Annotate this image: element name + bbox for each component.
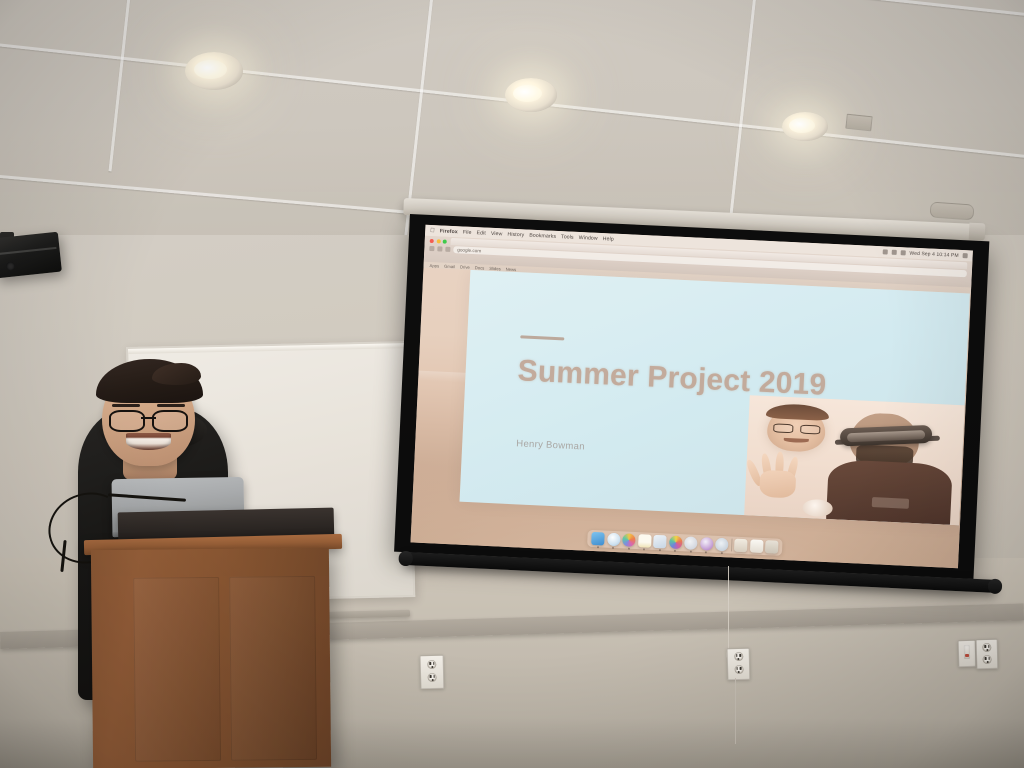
trash-icon[interactable] [765, 540, 779, 554]
photos-icon[interactable] [622, 533, 636, 547]
apple-menu-icon[interactable]:  [430, 227, 435, 233]
wall-outlet-center [727, 648, 751, 681]
ceiling-downlight-2 [505, 78, 557, 112]
menu-item-help[interactable]: Help [603, 236, 614, 243]
safari-icon[interactable] [607, 533, 621, 547]
wall-mounted-projector-speaker [0, 232, 62, 279]
menu-bar-clock[interactable]: Wed Sep 4 10:14 PM [909, 250, 958, 258]
bluetooth-icon[interactable] [882, 249, 887, 254]
wifi-icon[interactable] [891, 250, 896, 255]
zoom-window-button[interactable] [443, 239, 447, 243]
menu-item-view[interactable]: View [491, 230, 503, 237]
menu-item-history[interactable]: History [507, 231, 524, 238]
ceiling-vent [845, 114, 872, 132]
app-store-icon[interactable] [653, 535, 667, 549]
presenter-smile [126, 433, 171, 449]
ceiling-downlight-1 [185, 52, 243, 90]
bookmark-gmail[interactable]: Gmail [444, 263, 455, 269]
projection-screen-frame:  Firefox File Edit View History Bookmar… [394, 214, 989, 579]
menu-item-tools[interactable]: Tools [561, 234, 574, 241]
address-bar-url: google.com [457, 247, 481, 253]
ceiling-speaker-grille [929, 201, 974, 220]
presenter-brow-right [157, 404, 185, 407]
menu-item-bookmarks[interactable]: Bookmarks [529, 232, 556, 239]
menu-item-edit[interactable]: Edit [476, 230, 486, 236]
headset-wearer-figure [826, 411, 956, 525]
holographic-face-icon [767, 406, 827, 453]
battery-icon[interactable] [900, 250, 905, 255]
wall-outlet-right [976, 639, 999, 670]
lecture-hall-scene:  Firefox File Edit View History Bookmar… [0, 0, 1024, 768]
bookmark-drive[interactable]: Drive [460, 264, 470, 269]
drop-tile-ceiling [0, 0, 1024, 235]
menu-item-window[interactable]: Window [579, 234, 598, 241]
outlet-hanging-cord [735, 678, 736, 744]
presenter-brow-left [112, 404, 140, 407]
dock-separator [730, 538, 732, 551]
slide-accent-rule [520, 335, 564, 340]
messages-icon[interactable] [669, 536, 683, 550]
back-button[interactable] [429, 246, 434, 251]
close-window-button[interactable] [430, 238, 434, 242]
presenter-head [102, 370, 195, 466]
control-center-icon[interactable] [963, 253, 968, 258]
reload-button[interactable] [445, 247, 450, 252]
whatsapp-icon[interactable] [684, 536, 698, 550]
ceiling-downlight-3 [782, 112, 828, 141]
raised-hand-shape [754, 448, 804, 498]
minimize-window-button[interactable] [436, 239, 440, 243]
keynote-icon[interactable] [734, 539, 748, 553]
podium-body [91, 548, 331, 768]
menu-item-firefox[interactable]: Firefox [440, 228, 458, 235]
preview-icon[interactable] [715, 538, 729, 552]
screen-pull-cord[interactable] [728, 566, 729, 654]
notes-icon[interactable] [638, 534, 652, 548]
bookmark-apps[interactable]: Apps [430, 262, 440, 267]
projection-screen-surface:  Firefox File Edit View History Bookmar… [411, 225, 973, 568]
window-traffic-lights[interactable] [430, 238, 447, 243]
eyeglasses-icon [109, 410, 187, 427]
slide-photo [744, 395, 964, 525]
adobe-reader-icon[interactable] [699, 537, 713, 551]
slide-title: Summer Project 2019 [517, 354, 827, 403]
presentation-slide[interactable]: Summer Project 2019 Henry Bowman [460, 270, 970, 525]
wall-outlet-left [420, 655, 445, 690]
downloads-stack-icon[interactable] [749, 539, 763, 553]
slide-subtitle: Henry Bowman [516, 438, 585, 452]
light-switch-plate[interactable] [958, 640, 977, 667]
menu-item-file[interactable]: File [463, 229, 472, 235]
finder-icon[interactable] [591, 532, 605, 546]
forward-button[interactable] [437, 246, 442, 251]
